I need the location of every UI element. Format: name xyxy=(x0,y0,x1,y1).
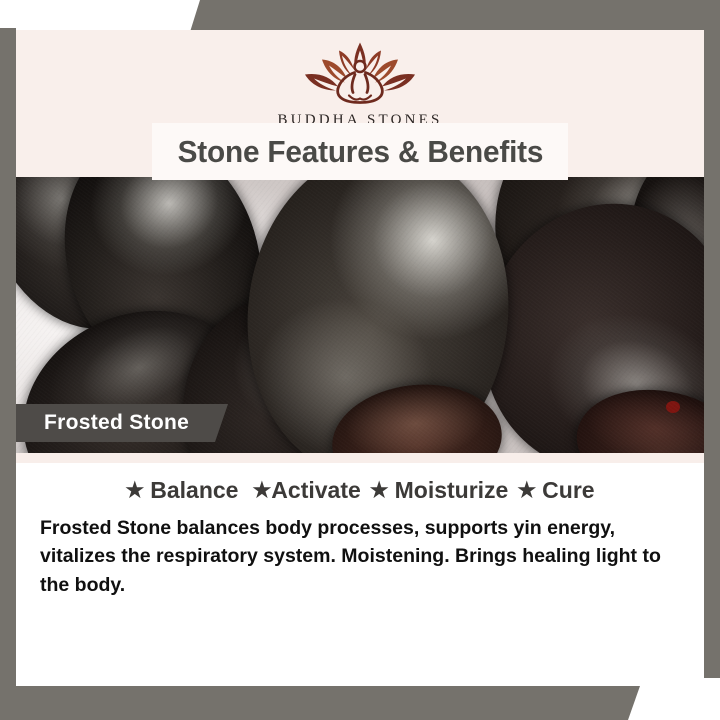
frame-top-bar xyxy=(190,0,720,32)
star-icon: ★ xyxy=(252,480,271,501)
star-icon: ★ xyxy=(517,480,536,501)
benefit-label: Moisturize xyxy=(395,479,509,502)
benefit-item: ★ Activate xyxy=(252,479,360,502)
benefit-item: ★ Moisturize xyxy=(370,479,509,502)
benefit-label: Balance xyxy=(150,479,238,502)
star-icon: ★ xyxy=(370,480,389,501)
description-text: Frosted Stone balances body processes, s… xyxy=(16,514,704,599)
title-band: Stone Features & Benefits xyxy=(152,123,568,180)
benefits-row: ★ Balance ★ Activate ★ Moisturize ★ Cure xyxy=(16,479,704,502)
stone-caption-banner: Frosted Stone xyxy=(16,404,228,442)
divider-strip xyxy=(16,453,704,463)
frame-right-bar xyxy=(704,30,720,678)
frame-bottom-bar xyxy=(0,686,640,720)
benefit-item: ★ Balance xyxy=(125,479,238,502)
body-panel: ★ Balance ★ Activate ★ Moisturize ★ Cure… xyxy=(16,463,704,686)
lotus-meditation-icon xyxy=(275,34,445,112)
infographic-canvas: BUDDHA STONES Stone Features & Benefits … xyxy=(0,0,720,720)
frame-left-bar xyxy=(0,28,16,686)
stone-red-speck xyxy=(666,401,680,413)
star-icon: ★ xyxy=(125,480,144,501)
stone-caption-label: Frosted Stone xyxy=(44,411,189,435)
benefit-label: Cure xyxy=(542,479,594,502)
benefit-label: Activate xyxy=(271,479,360,502)
benefit-item: ★ Cure xyxy=(517,479,594,502)
page-title: Stone Features & Benefits xyxy=(177,134,543,170)
